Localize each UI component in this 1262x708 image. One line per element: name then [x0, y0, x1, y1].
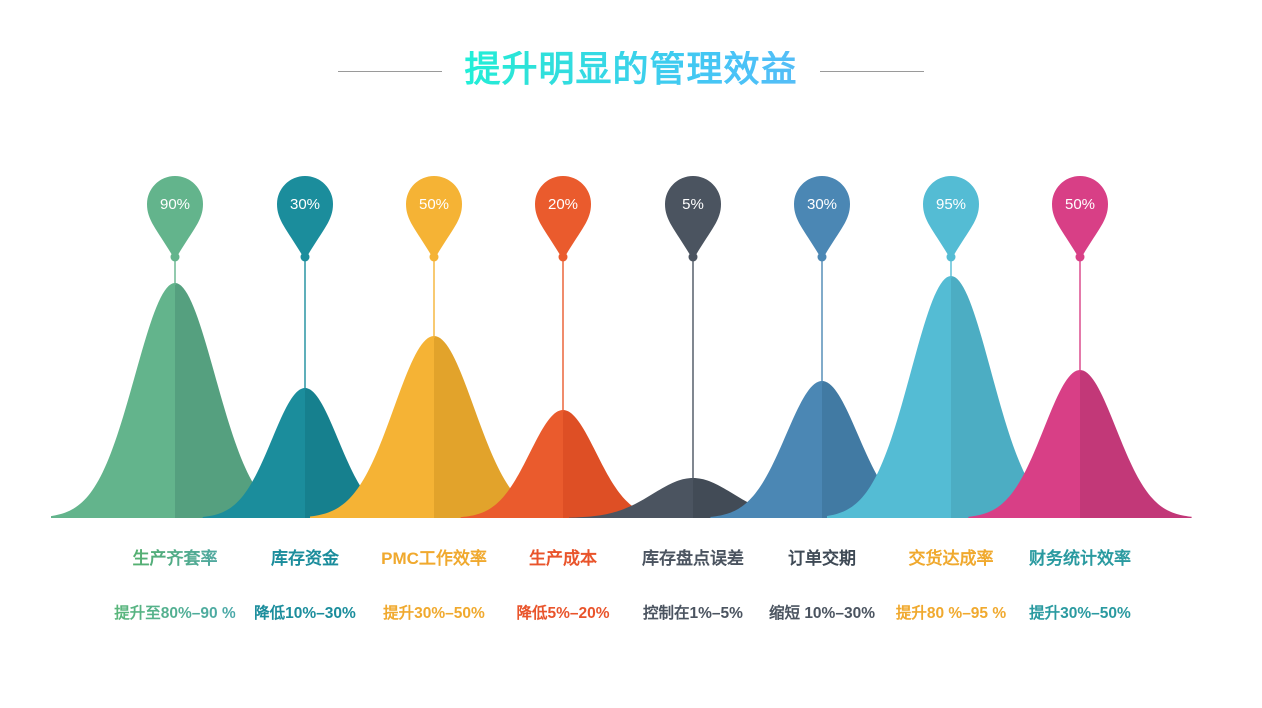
pin-group-pmc-work-efficiency[interactable]: 50% — [406, 176, 462, 338]
pin-value-label: 50% — [1065, 196, 1095, 213]
bell-curve-chart: 90%30%50%20%5%30%95%50% — [0, 150, 1262, 540]
pin-marker-production-kitting-rate[interactable] — [147, 176, 203, 260]
pin-group-delivery-achievement-rate[interactable]: 95% — [923, 176, 979, 278]
detail-label-production-kitting-rate: 提升至80%–90 % — [114, 600, 235, 628]
category-label-finance-statistics-efficiency: 财务统计效率 — [1029, 545, 1131, 573]
detail-label-production-cost: 降低5%–20% — [516, 600, 609, 628]
pin-group-order-lead-time[interactable]: 30% — [794, 176, 850, 383]
pin-group-inventory-funds[interactable]: 30% — [277, 176, 333, 390]
detail-label-finance-statistics-efficiency: 提升30%–50% — [1029, 600, 1131, 628]
category-label-order-lead-time: 订单交期 — [788, 545, 856, 573]
pin-value-label: 20% — [548, 196, 578, 213]
pin-group-production-cost[interactable]: 20% — [535, 176, 591, 412]
category-label-production-cost: 生产成本 — [529, 545, 597, 573]
slide-root: 提升明显的管理效益 90%30%50%20%5%30%95%50% 生产齐套率库… — [0, 0, 1262, 708]
category-label-inventory-funds: 库存资金 — [271, 545, 339, 573]
category-label-inventory-count-error: 库存盘点误差 — [642, 545, 744, 573]
detail-label-inventory-count-error: 控制在1%–5% — [643, 600, 743, 628]
pin-group-production-kitting-rate[interactable]: 90% — [147, 176, 203, 285]
pin-marker-inventory-funds[interactable] — [277, 176, 333, 260]
pin-marker-order-lead-time[interactable] — [794, 176, 850, 260]
pin-group-inventory-count-error[interactable]: 5% — [665, 176, 721, 480]
detail-label-delivery-achievement-rate: 提升80 %–95 % — [896, 600, 1006, 628]
category-labels-row: 生产齐套率库存资金PMC工作效率生产成本库存盘点误差订单交期交货达成率财务统计效… — [0, 545, 1262, 575]
pins-layer: 90%30%50%20%5%30%95%50% — [0, 150, 1262, 540]
title-rule-left — [338, 71, 442, 72]
title-bar: 提升明显的管理效益 — [0, 44, 1262, 98]
pin-value-label: 30% — [290, 196, 320, 213]
pin-marker-inventory-count-error[interactable] — [665, 176, 721, 260]
pin-marker-pmc-work-efficiency[interactable] — [406, 176, 462, 260]
pin-marker-finance-statistics-efficiency[interactable] — [1052, 176, 1108, 260]
category-label-delivery-achievement-rate: 交货达成率 — [909, 545, 994, 573]
pin-marker-production-cost[interactable] — [535, 176, 591, 260]
pin-value-label: 30% — [807, 196, 837, 213]
pin-group-finance-statistics-efficiency[interactable]: 50% — [1052, 176, 1108, 372]
title-rule-right — [820, 71, 924, 72]
detail-label-pmc-work-efficiency: 提升30%–50% — [383, 600, 485, 628]
pin-value-label: 50% — [419, 196, 449, 213]
category-label-pmc-work-efficiency: PMC工作效率 — [381, 545, 487, 573]
detail-label-order-lead-time: 缩短 10%–30% — [769, 600, 875, 628]
pin-marker-delivery-achievement-rate[interactable] — [923, 176, 979, 260]
pin-value-label: 5% — [682, 196, 704, 213]
pin-value-label: 95% — [936, 196, 966, 213]
pin-value-label: 90% — [160, 196, 190, 213]
category-label-production-kitting-rate: 生产齐套率 — [133, 545, 218, 573]
detail-label-inventory-funds: 降低10%–30% — [254, 600, 356, 628]
detail-labels-row: 提升至80%–90 %降低10%–30%提升30%–50%降低5%–20%控制在… — [0, 600, 1262, 630]
page-title: 提升明显的管理效益 — [464, 51, 797, 91]
